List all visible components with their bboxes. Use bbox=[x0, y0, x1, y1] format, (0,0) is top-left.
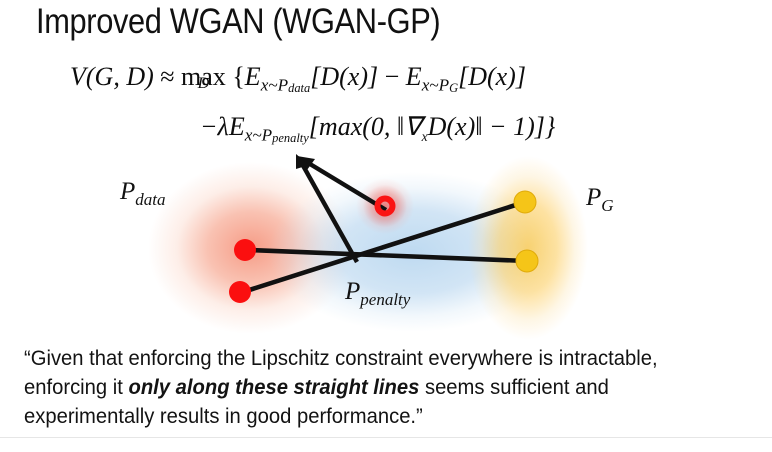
label-p-penalty-sub: penalty bbox=[360, 290, 410, 309]
formula-lhs: V(G, D) bbox=[70, 62, 154, 91]
slide-canvas: Improved WGAN (WGAN-GP) V(G, D) ≈ max D … bbox=[0, 0, 772, 452]
bottom-divider bbox=[0, 437, 772, 438]
formula-term2-subsubscript: G bbox=[449, 81, 458, 95]
label-p-data-sub: data bbox=[135, 190, 165, 209]
arrow-from-crossing-point bbox=[296, 154, 357, 262]
label-p-data: Pdata bbox=[120, 178, 166, 210]
quote-text: “Given that enforcing the Lipschitz cons… bbox=[24, 344, 706, 431]
data-point-1 bbox=[234, 239, 256, 261]
formula-max-operator: max D bbox=[181, 62, 226, 92]
distribution-diagram: Pdata Ppenalty PG bbox=[0, 150, 772, 340]
label-p-generated-sub: G bbox=[601, 196, 613, 215]
formula-term3-body: [max(0, ‖∇ bbox=[309, 112, 422, 141]
formula-minus-lambda: −λ bbox=[200, 112, 229, 141]
formula-term2-expectation: E bbox=[406, 62, 422, 91]
formula-term3-expectation: E bbox=[229, 112, 245, 141]
diagram-vectors bbox=[0, 150, 772, 340]
generated-point-2 bbox=[516, 250, 538, 272]
label-p-data-base: P bbox=[120, 178, 135, 205]
quote-emphasis: only along these straight lines bbox=[128, 375, 419, 399]
label-p-penalty: Ppenalty bbox=[345, 278, 410, 310]
formula-term1-body: [D(x)] bbox=[310, 62, 378, 91]
formula-term1-subsubscript: data bbox=[288, 81, 310, 95]
label-p-generated-base: P bbox=[586, 184, 601, 211]
formula-term3-subsubscript: penalty bbox=[272, 131, 309, 145]
formula-term3-tail: D(x)‖ − 1)]} bbox=[428, 112, 556, 141]
formula-line-1: V(G, D) ≈ max D {Ex~Pdata[D(x)] − Ex~PG[… bbox=[70, 62, 526, 96]
label-p-generated: PG bbox=[586, 184, 614, 216]
interpolated-point bbox=[378, 199, 393, 214]
formula-term1-expectation: E bbox=[245, 62, 261, 91]
formula-term1-subscript: x~P bbox=[261, 75, 288, 94]
formula-open-brace: { bbox=[232, 62, 244, 91]
page-title: Improved WGAN (WGAN-GP) bbox=[36, 2, 440, 42]
formula-line-2: −λEx~Ppenalty[max(0, ‖∇xD(x)‖ − 1)]} bbox=[200, 112, 555, 146]
formula-minus-sign: − bbox=[385, 62, 400, 91]
formula-max-subscript: D bbox=[181, 75, 226, 93]
generated-point-1 bbox=[514, 191, 536, 213]
label-p-penalty-base: P bbox=[345, 278, 360, 305]
formula-term3-subscript: x~P bbox=[245, 125, 272, 144]
formula-term2-body: [D(x)] bbox=[458, 62, 526, 91]
interp-line-1 bbox=[248, 250, 527, 261]
formula-approx-sign: ≈ bbox=[160, 62, 174, 91]
formula-term2-subscript: x~P bbox=[422, 75, 449, 94]
data-point-2 bbox=[229, 281, 251, 303]
